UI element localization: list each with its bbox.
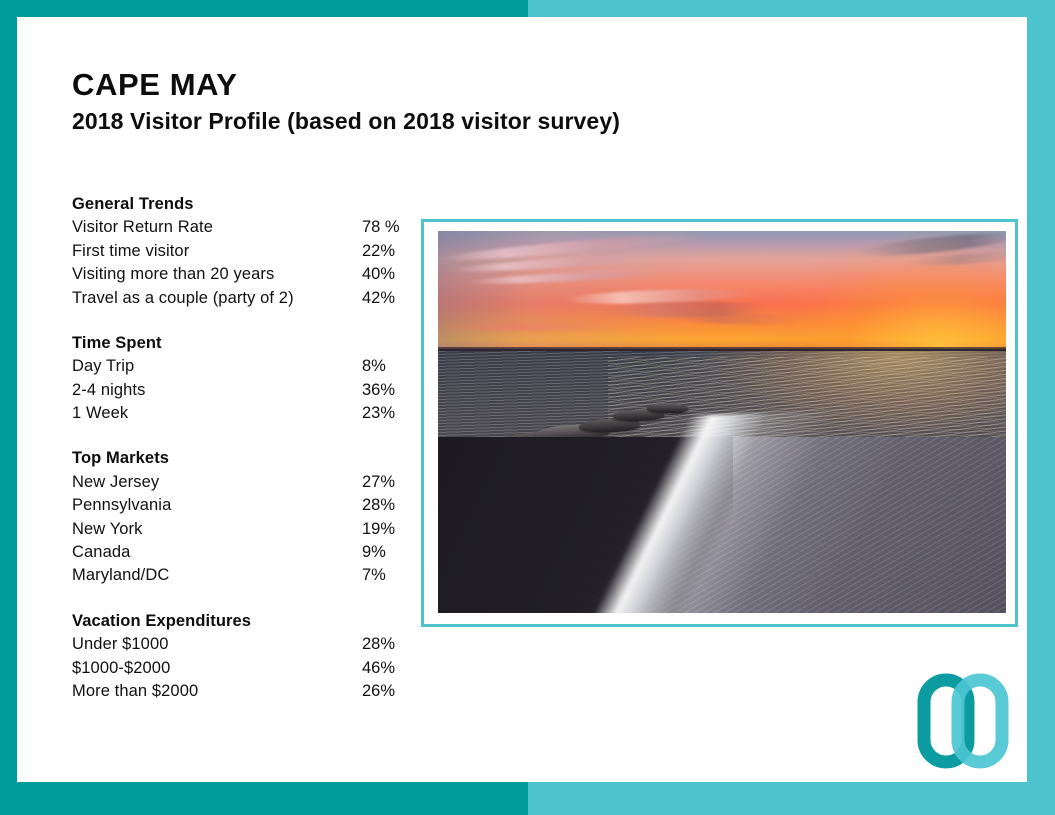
stat-row: Canada9% bbox=[72, 541, 412, 564]
stat-label: New Jersey bbox=[72, 471, 159, 494]
stat-label: $1000-$2000 bbox=[72, 657, 170, 680]
frame-band-right bbox=[1027, 0, 1055, 815]
stat-row: Maryland/DC7% bbox=[72, 564, 412, 587]
stat-value: 78 % bbox=[362, 216, 400, 239]
photo-rock bbox=[647, 404, 688, 413]
stat-row: Day Trip8% bbox=[72, 355, 412, 378]
frame-band-top-right bbox=[528, 0, 1055, 17]
stat-label: 2-4 nights bbox=[72, 379, 145, 402]
stat-label: Maryland/DC bbox=[72, 564, 169, 587]
title-block: CAPE MAY 2018 Visitor Profile (based on … bbox=[72, 68, 872, 135]
stat-value: 9% bbox=[362, 541, 386, 564]
stat-row: More than $200026% bbox=[72, 680, 412, 703]
stat-label: More than $2000 bbox=[72, 680, 198, 703]
stat-label: Under $1000 bbox=[72, 633, 169, 656]
stat-row: 1 Week23% bbox=[72, 402, 412, 425]
page-title: CAPE MAY bbox=[72, 68, 872, 103]
stat-label: First time visitor bbox=[72, 240, 189, 263]
stat-section-heading: General Trends bbox=[72, 193, 412, 215]
frame-band-bottom-right bbox=[528, 782, 1055, 815]
stat-value: 42% bbox=[362, 287, 395, 310]
interlocking-links-logo bbox=[912, 672, 1020, 770]
stat-row: New Jersey27% bbox=[72, 471, 412, 494]
stat-value: 27% bbox=[362, 471, 395, 494]
stat-value: 40% bbox=[362, 263, 395, 286]
photo-cloud bbox=[438, 323, 631, 331]
stat-section-heading: Vacation Expenditures bbox=[72, 610, 412, 632]
statistics-column: General TrendsVisitor Return Rate78 %Fir… bbox=[72, 193, 412, 703]
stat-value: 7% bbox=[362, 564, 386, 587]
stat-value: 23% bbox=[362, 402, 395, 425]
photo-foam-edge bbox=[559, 408, 918, 613]
stat-value: 36% bbox=[362, 379, 395, 402]
stat-label: Pennsylvania bbox=[72, 494, 171, 517]
photo-frame bbox=[421, 219, 1018, 627]
sunset-beach-photo bbox=[438, 231, 1006, 613]
page-subtitle: 2018 Visitor Profile (based on 2018 visi… bbox=[72, 108, 872, 136]
stat-value: 8% bbox=[362, 355, 386, 378]
stat-label: Travel as a couple (party of 2) bbox=[72, 287, 294, 310]
stat-value: 22% bbox=[362, 240, 395, 263]
stat-section-heading: Time Spent bbox=[72, 332, 412, 354]
frame-band-left bbox=[0, 0, 17, 815]
stat-row: Pennsylvania28% bbox=[72, 494, 412, 517]
frame-band-top-left bbox=[0, 0, 528, 17]
stat-value: 28% bbox=[362, 633, 395, 656]
stat-label: 1 Week bbox=[72, 402, 128, 425]
stat-row: First time visitor22% bbox=[72, 240, 412, 263]
stat-value: 46% bbox=[362, 657, 395, 680]
stat-section-heading: Top Markets bbox=[72, 447, 412, 469]
stat-row: Visiting more than 20 years40% bbox=[72, 263, 412, 286]
stat-row: Visitor Return Rate78 % bbox=[72, 216, 412, 239]
stat-value: 19% bbox=[362, 518, 395, 541]
frame-band-bottom-left bbox=[0, 782, 528, 815]
stat-label: Day Trip bbox=[72, 355, 134, 378]
stat-section: Time SpentDay Trip8%2-4 nights36%1 Week2… bbox=[72, 332, 412, 426]
slide: CAPE MAY 2018 Visitor Profile (based on … bbox=[0, 0, 1055, 815]
stat-row: $1000-$200046% bbox=[72, 657, 412, 680]
stat-row: New York19% bbox=[72, 518, 412, 541]
stat-label: Visitor Return Rate bbox=[72, 216, 213, 239]
stat-value: 26% bbox=[362, 680, 395, 703]
stat-value: 28% bbox=[362, 494, 395, 517]
stat-row: Travel as a couple (party of 2)42% bbox=[72, 287, 412, 310]
stat-section: Vacation ExpendituresUnder $100028%$1000… bbox=[72, 610, 412, 704]
stat-row: Under $100028% bbox=[72, 633, 412, 656]
stat-label: Canada bbox=[72, 541, 130, 564]
stat-label: Visiting more than 20 years bbox=[72, 263, 274, 286]
stat-section: Top MarketsNew Jersey27%Pennsylvania28%N… bbox=[72, 447, 412, 587]
stat-label: New York bbox=[72, 518, 143, 541]
stat-row: 2-4 nights36% bbox=[72, 379, 412, 402]
stat-section: General TrendsVisitor Return Rate78 %Fir… bbox=[72, 193, 412, 310]
